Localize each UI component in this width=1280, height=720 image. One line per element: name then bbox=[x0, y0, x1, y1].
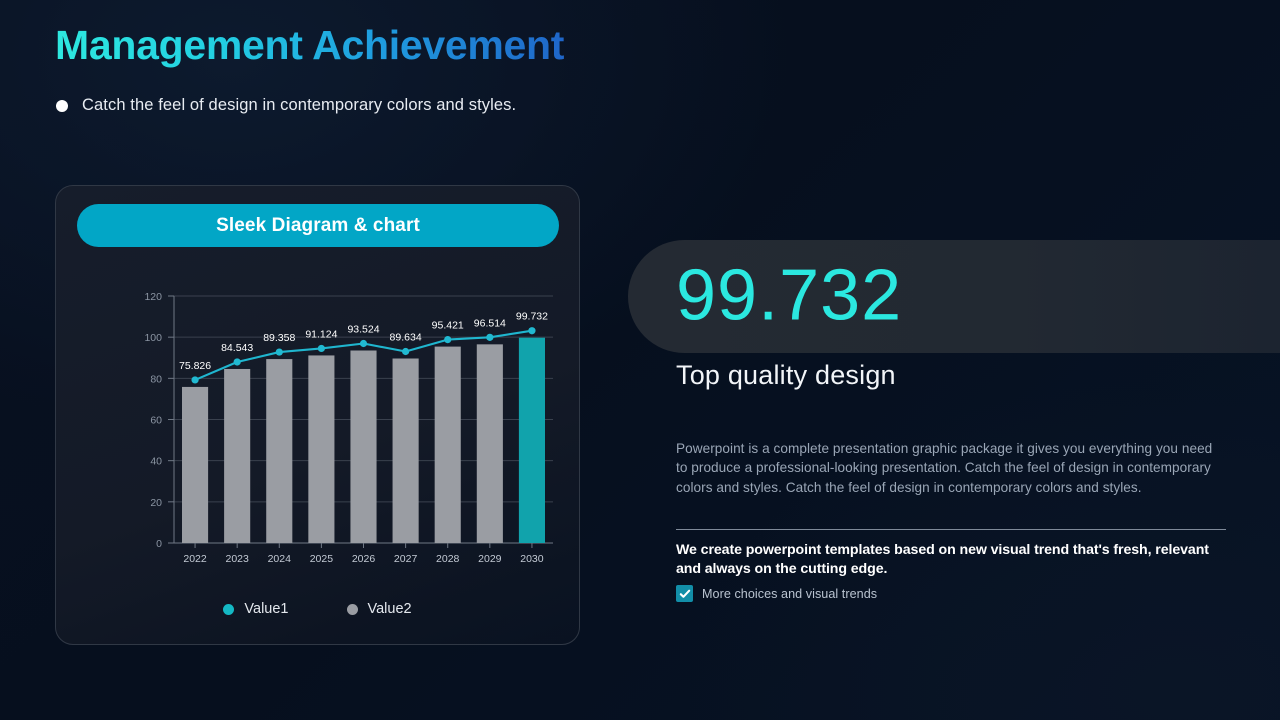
slide-root: Management Achievement Catch the feel of… bbox=[0, 0, 1280, 720]
svg-text:2023: 2023 bbox=[225, 553, 249, 565]
svg-text:100: 100 bbox=[144, 332, 162, 344]
chart-x-axis-labels: 202220232024202520262027202820292030 bbox=[183, 543, 543, 565]
kpi-paragraph: Powerpoint is a complete presentation gr… bbox=[676, 439, 1224, 497]
svg-text:2025: 2025 bbox=[310, 553, 334, 565]
svg-text:91.124: 91.124 bbox=[305, 328, 337, 340]
svg-text:120: 120 bbox=[144, 291, 162, 303]
svg-text:2022: 2022 bbox=[183, 553, 207, 565]
svg-text:2026: 2026 bbox=[352, 553, 376, 565]
svg-text:75.826: 75.826 bbox=[179, 360, 211, 372]
svg-text:84.543: 84.543 bbox=[221, 342, 253, 354]
svg-text:89.358: 89.358 bbox=[263, 332, 295, 344]
svg-text:0: 0 bbox=[156, 538, 162, 550]
svg-text:99.732: 99.732 bbox=[516, 311, 548, 323]
svg-text:96.514: 96.514 bbox=[474, 317, 506, 329]
kpi-value: 99.732 bbox=[676, 259, 902, 331]
combo-chart-svg: 020406080100120 75.82684.54389.35891.124… bbox=[56, 258, 581, 633]
page-title: Management Achievement bbox=[55, 22, 564, 69]
kpi-heading: Top quality design bbox=[676, 360, 896, 391]
checkbox-row[interactable]: More choices and visual trends bbox=[676, 585, 877, 602]
checkbox-label: More choices and visual trends bbox=[702, 587, 877, 601]
svg-text:40: 40 bbox=[150, 456, 162, 468]
legend-item-value1[interactable]: Value1 bbox=[223, 601, 288, 617]
svg-text:2027: 2027 bbox=[394, 553, 418, 565]
section-divider bbox=[676, 529, 1226, 530]
legend-item-value2[interactable]: Value2 bbox=[347, 601, 412, 617]
chart-bars bbox=[182, 338, 545, 543]
legend-swatch-icon-value2 bbox=[347, 604, 358, 615]
chart-y-axis-labels: 020406080100120 bbox=[144, 291, 162, 550]
svg-text:2030: 2030 bbox=[520, 553, 544, 565]
svg-text:2029: 2029 bbox=[478, 553, 502, 565]
subtitle-text: Catch the feel of design in contemporary… bbox=[82, 96, 516, 115]
bullet-dot-icon bbox=[56, 100, 68, 112]
svg-text:20: 20 bbox=[150, 497, 162, 509]
legend-label-value1: Value1 bbox=[244, 601, 288, 617]
legend-swatch-icon-value1 bbox=[223, 604, 234, 615]
chart-legend: Value1 Value2 bbox=[56, 601, 579, 617]
svg-text:2024: 2024 bbox=[268, 553, 292, 565]
chart-card: Sleek Diagram & chart 020406080100120 75… bbox=[55, 185, 580, 645]
chart-title-pill[interactable]: Sleek Diagram & chart bbox=[77, 204, 559, 247]
legend-label-value2: Value2 bbox=[368, 601, 412, 617]
svg-text:93.524: 93.524 bbox=[347, 323, 379, 335]
svg-text:60: 60 bbox=[150, 415, 162, 427]
check-icon bbox=[679, 588, 691, 600]
kpi-panel: 99.732 bbox=[628, 240, 1280, 353]
svg-text:80: 80 bbox=[150, 373, 162, 385]
svg-text:2028: 2028 bbox=[436, 553, 460, 565]
kpi-bold-note: We create powerpoint templates based on … bbox=[676, 541, 1216, 578]
chart-plot-area[interactable]: 020406080100120 75.82684.54389.35891.124… bbox=[56, 258, 581, 633]
svg-text:89.634: 89.634 bbox=[390, 332, 422, 344]
more-choices-checkbox[interactable] bbox=[676, 585, 693, 602]
svg-text:95.421: 95.421 bbox=[432, 320, 464, 332]
subtitle-row: Catch the feel of design in contemporary… bbox=[56, 96, 516, 115]
